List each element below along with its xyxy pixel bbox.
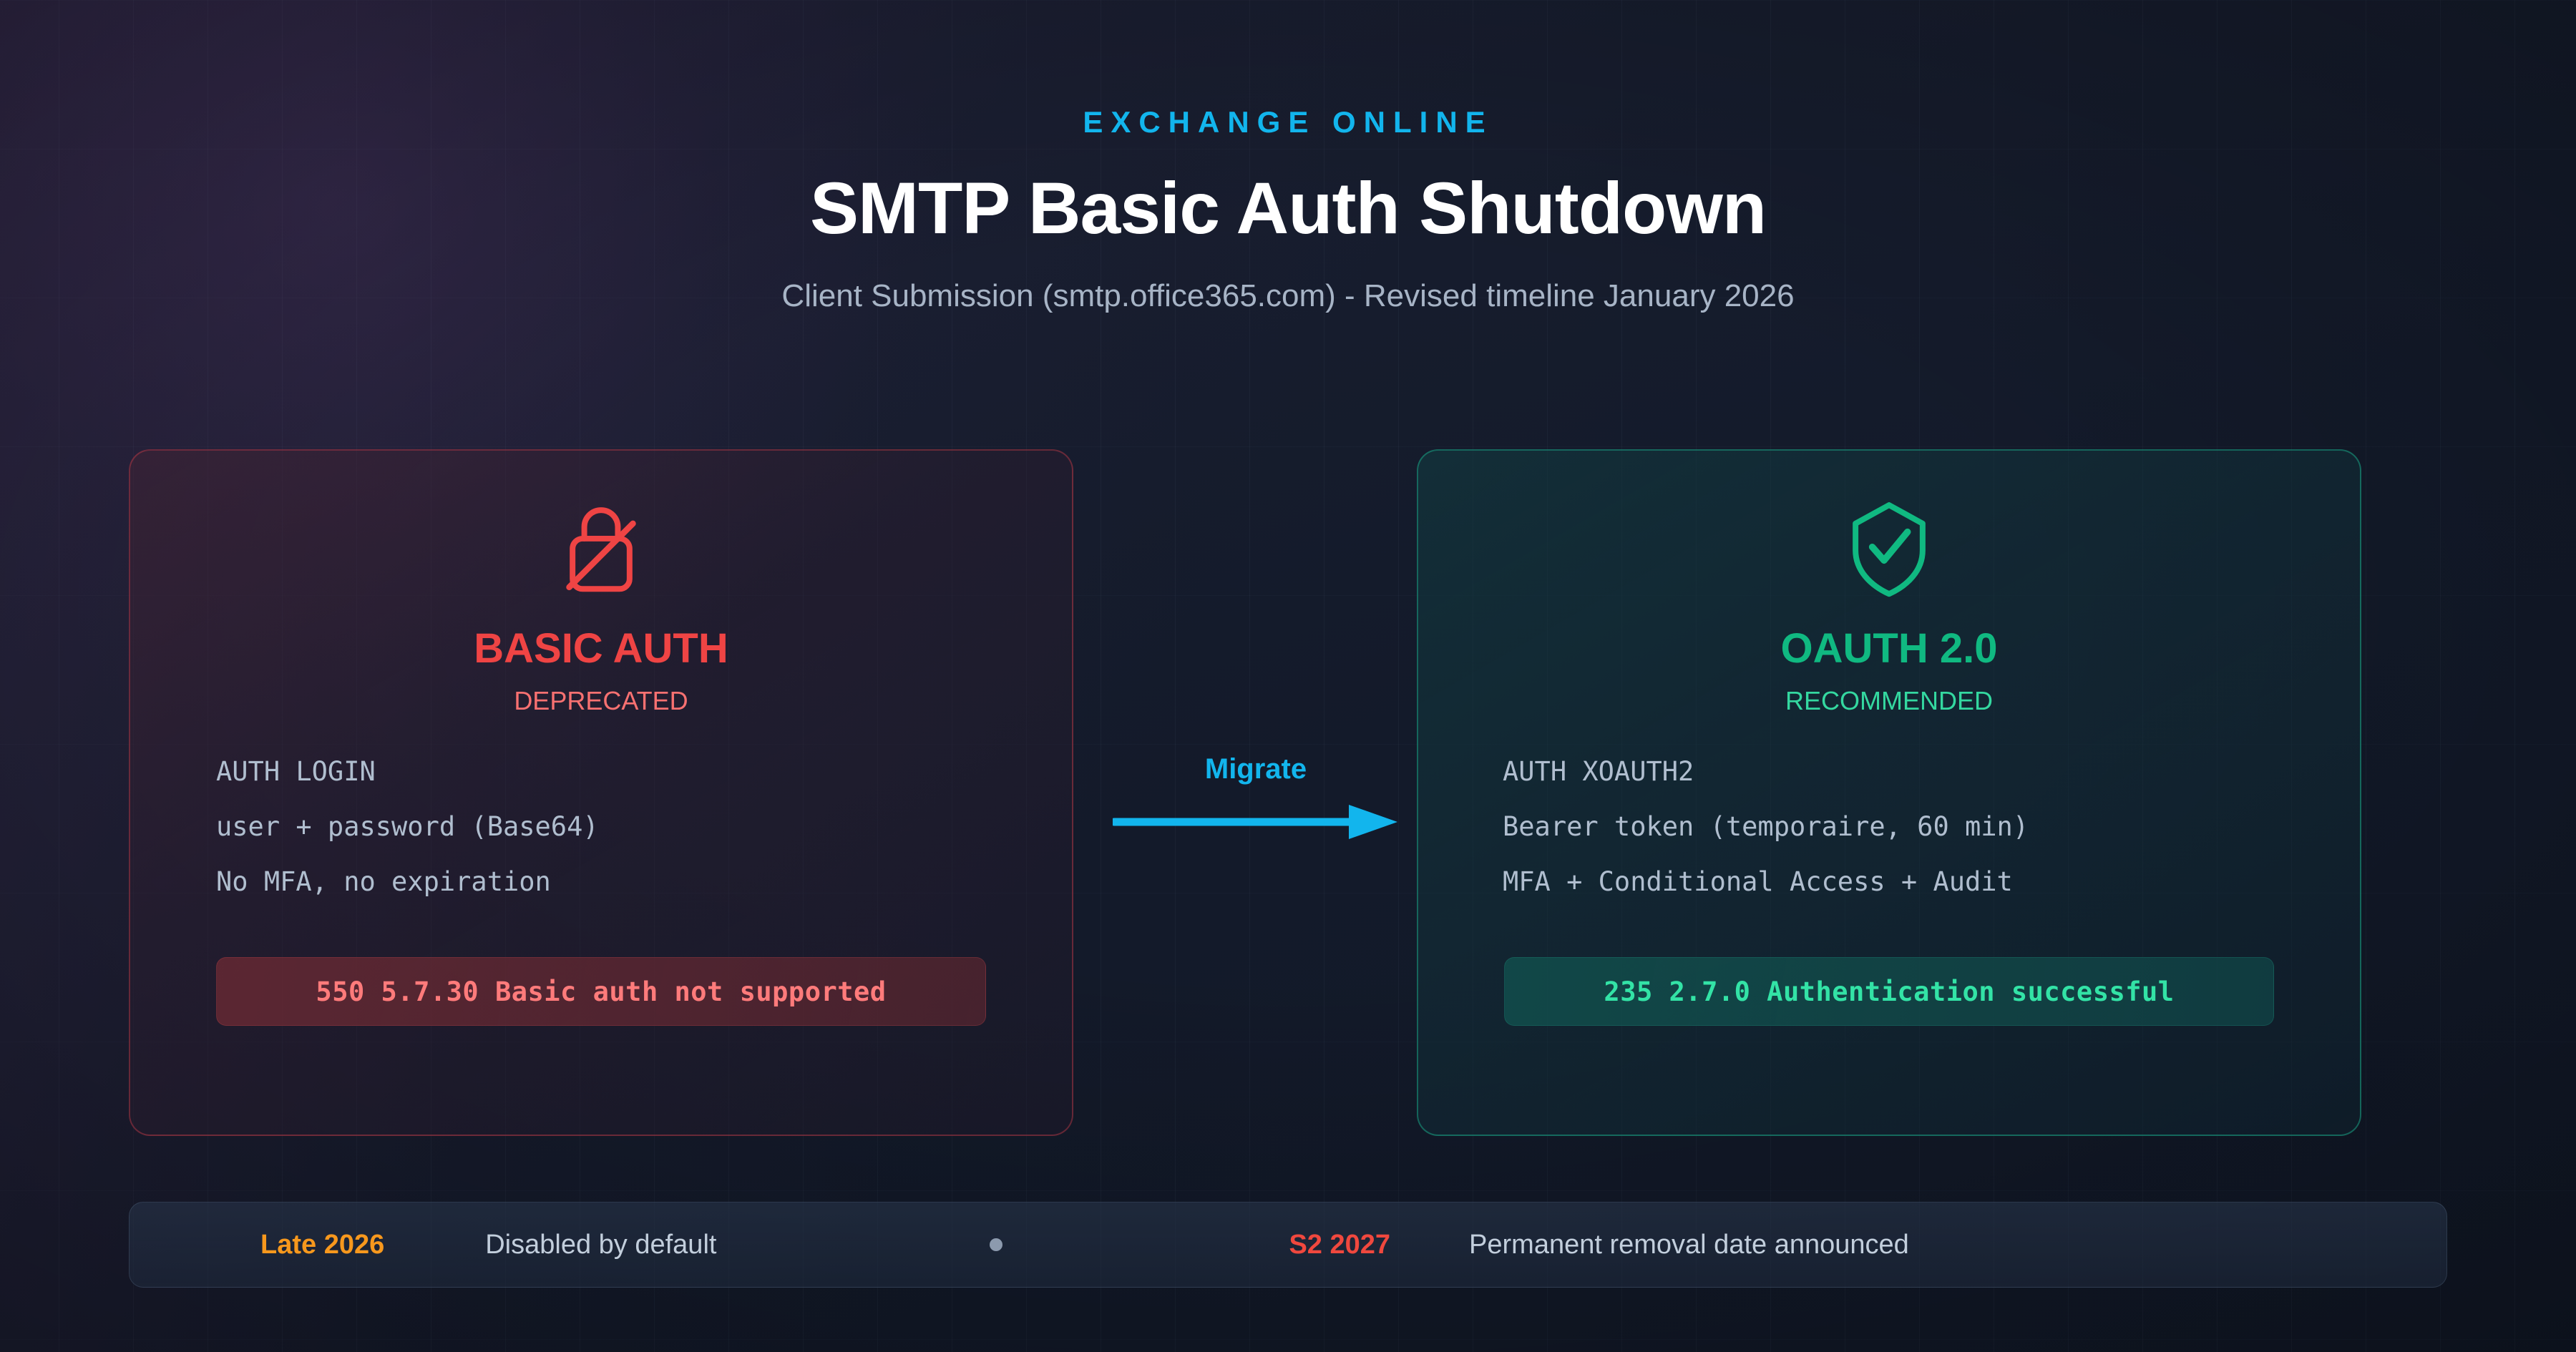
timeline-date-1: S2 2027 [1289,1231,1390,1258]
page-header: EXCHANGE ONLINE SMTP Basic Auth Shutdown… [0,107,2576,312]
card-basic-auth-subheading: DEPRECATED [130,688,1072,714]
shield-check-icon-wrapper [1418,495,2360,602]
lock-slash-icon-wrapper [130,495,1072,602]
arrow-right-icon [1113,802,1399,842]
detail-line: No MFA, no expiration [216,868,1072,895]
card-oauth2-heading: OAUTH 2.0 [1418,628,2360,670]
page-subtitle: Client Submission (smtp.office365.com) -… [0,280,2576,312]
status-badge-success: 235 2.7.0 Authentication successful [1504,957,2274,1026]
lock-slash-icon [547,495,655,602]
detail-line: MFA + Conditional Access + Audit [1503,868,2360,895]
card-basic-auth-details: AUTH LOGIN user + password (Base64) No M… [130,758,1072,895]
card-oauth2: OAUTH 2.0 RECOMMENDED AUTH XOAUTH2 Beare… [1417,449,2361,1136]
migrate-connector: Migrate [1113,755,1399,842]
card-oauth2-details: AUTH XOAUTH2 Bearer token (temporaire, 6… [1418,758,2360,895]
timeline-date-0: Late 2026 [260,1231,384,1258]
shield-check-icon [1835,495,1943,602]
card-basic-auth: BASIC AUTH DEPRECATED AUTH LOGIN user + … [129,449,1073,1136]
detail-line: user + password (Base64) [216,813,1072,840]
card-basic-auth-heading: BASIC AUTH [130,628,1072,670]
card-oauth2-subheading: RECOMMENDED [1418,688,2360,714]
status-badge-error: 550 5.7.30 Basic auth not supported [216,957,986,1026]
timeline-bar: Late 2026 Disabled by default S2 2027 Pe… [129,1202,2447,1288]
detail-line: AUTH XOAUTH2 [1503,758,2360,785]
detail-line: AUTH LOGIN [216,758,1072,785]
detail-line: Bearer token (temporaire, 60 min) [1503,813,2360,840]
migrate-label: Migrate [1113,755,1399,783]
page-title: SMTP Basic Auth Shutdown [0,172,2576,245]
eyebrow-label: EXCHANGE ONLINE [0,107,2576,137]
timeline-text-0: Disabled by default [485,1231,716,1258]
dot-separator-icon [990,1238,1002,1251]
timeline-text-1: Permanent removal date announced [1469,1231,1909,1258]
